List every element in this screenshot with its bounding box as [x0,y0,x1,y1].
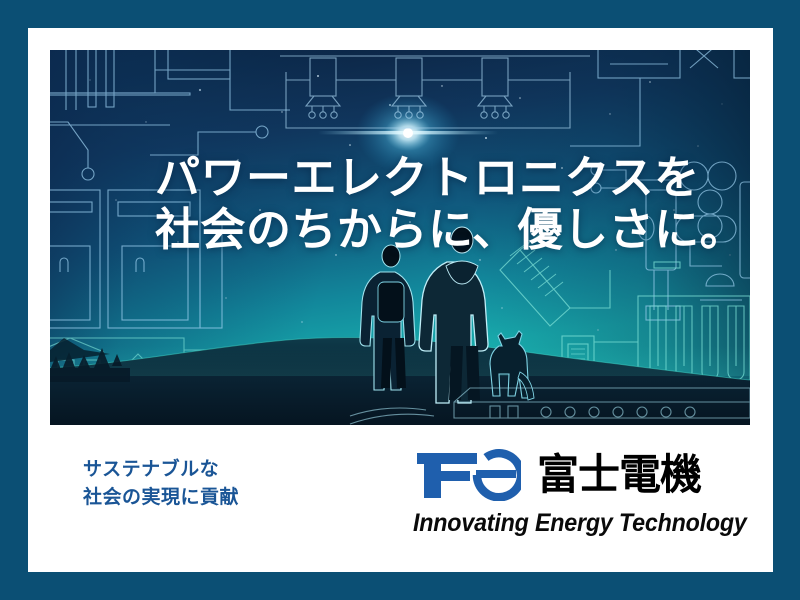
poster-footer: サステナブルな 社会の実現に貢献 富士電機 In [28,428,773,572]
fe-logo-mark [413,449,521,501]
sub-tagline-line-2: 社会の実現に貢献 [83,484,239,512]
logo-slogan: Innovating Energy Technology [413,508,711,538]
logo-company-name: 富士電機 [537,452,701,498]
hero-artwork [50,50,750,425]
brand-poster: パワーエレクトロニクスを 社会のちからに、優しさに。 サステナブルな 社会の実現… [0,0,800,600]
fuji-electric-logo: 富士電機 Innovating Energy Technology [413,446,733,538]
sub-tagline: サステナブルな 社会の実現に貢献 [83,456,239,512]
hero-image: パワーエレクトロニクスを 社会のちからに、優しさに。 [50,50,750,425]
sub-tagline-line-1: サステナブルな [83,456,239,484]
poster-white-card: パワーエレクトロニクスを 社会のちからに、優しさに。 サステナブルな 社会の実現… [28,28,773,572]
